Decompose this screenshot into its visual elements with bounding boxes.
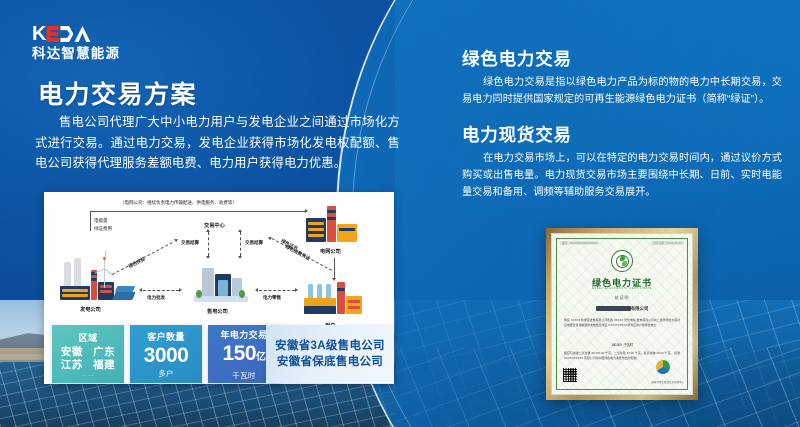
diagram-label-settlement-left: 交易结算	[181, 240, 199, 246]
stat-value-customers: 3000	[144, 345, 189, 367]
diagram-icon-retailer-building	[192, 266, 248, 306]
section-body-spot-trading: 在电力交易市场上，可以在特定的电力交易时间内，通过议价方式购买或出售电量。电力现…	[462, 150, 782, 201]
stat-value-annual-suffix: 亿	[256, 352, 266, 363]
certificate-issuer-logo-icon	[656, 360, 670, 374]
diagram-settle-left-line	[208, 232, 209, 256]
diagram-green-cert-arrowhead-icon	[267, 236, 272, 241]
logo-mark: K	[32, 24, 152, 44]
certificate-organization-suffix: 有限公司	[631, 306, 649, 311]
certificate-serial-code: 编号：XXXXXXXXXXXXXXXX	[560, 241, 599, 245]
stat-tile-customers: 客户数量 3000 多户	[130, 325, 202, 383]
certificate-top-codes: 编号：XXXXXXXXXXXXXXXX 出具日期：XXXX-XX-XX	[560, 241, 684, 245]
diagram-settle-right-line	[240, 232, 241, 256]
logo-letter-k: K	[32, 24, 45, 44]
certificate-issue-date: 出具日期：XXXX-XX-XX	[651, 241, 684, 245]
diagram-node-trading-center: 交易中心	[204, 222, 225, 229]
certificate-qr-code	[563, 368, 577, 382]
stat-region-row-2: 江苏 福建	[61, 359, 115, 372]
diagram-wholesale-arrowhead-right-icon	[179, 288, 182, 292]
certificate-amount-value: 100,000	[611, 343, 621, 347]
badge-line-3a: 安徽省3A级售电公司	[275, 338, 385, 354]
green-certificate-frame: 编号：XXXXXXXXXXXXXXXX 出具日期：XXXX-XX-XX 绿色电力…	[546, 228, 698, 400]
stat-region-guangdong: 广东	[93, 346, 115, 358]
diagram-icon-user-factory	[300, 282, 364, 320]
certificate-subtitle: 兹证明	[552, 295, 692, 301]
diagram-settle-right-arrowhead-up-icon	[238, 229, 242, 232]
diagram-label-cert-fee: 绿证费用	[94, 226, 112, 232]
certificate-amount-unit: 千瓦时	[624, 343, 633, 347]
section-body-green-power: 绿色电力交易是指以绿色电力产品为标的物的电力中长期交易，交易电力同时提供国家规定…	[462, 74, 782, 108]
certificate-paragraph-2: 相应可减排二氧化碳 49,000.00 千克，二氧化硫 67.00 千克，氮氧化…	[564, 351, 680, 360]
badge-line-backstop: 安徽省保底售电公司	[277, 354, 383, 370]
stat-unit-annual-volume: 千瓦时	[232, 370, 255, 381]
diagram-retail-arrowhead-left-icon	[255, 288, 258, 292]
logo-letter-e-icon	[46, 26, 59, 42]
diagram-wholesale-line	[143, 290, 179, 291]
stat-unit-customers: 多户	[158, 368, 174, 379]
poster-canvas: K 科达智慧能源 电力交易方案 售电公司代理广大中小电力用户与发电企业之间通过市…	[0, 0, 800, 427]
diagram-grid-user-line	[334, 258, 335, 278]
certificate-organization-redacted: XXXXXXXXXXXX	[596, 306, 631, 311]
stat-caption-regions: 区域	[79, 331, 98, 344]
diagram-icon-grid-company	[302, 202, 362, 246]
stat-region-anhui: 安徽	[61, 346, 83, 358]
diagram-node-generation-company: 发电公司	[80, 306, 101, 313]
qualification-badge-panel: KEDA 安徽省3A级售电公司 安徽省保底售电公司	[266, 325, 394, 383]
certificate-seal-inner-icon	[616, 255, 629, 268]
diagram-grid-note: （电网公司：继续负责电力传输配送、供电服务、收费等）	[120, 200, 237, 206]
diagram-grid-user-arrowhead-icon	[332, 278, 336, 281]
certificate-amount: 100,000 千瓦时	[552, 338, 692, 348]
diagram-top-line	[90, 211, 305, 212]
section-heading-spot-trading: 电力现货交易	[462, 122, 572, 147]
logo-letter-a-icon	[74, 26, 90, 42]
diagram-settle-right-arrowhead-down-icon	[238, 256, 242, 259]
stat-region-fujian: 福建	[93, 359, 115, 371]
stat-region-jiangsu: 江苏	[61, 359, 83, 371]
diagram-retail-line	[259, 290, 295, 291]
diagram-green-rights-arrowhead-icon	[174, 238, 179, 243]
section-heading-green-power: 绿色电力交易	[462, 46, 572, 71]
certificate-issuer-name: 国家可再生能源信息管理中心	[651, 380, 684, 384]
stat-region-row-1: 安徽 广东	[61, 346, 115, 359]
diagram-settle-left-arrowhead-up-icon	[206, 229, 210, 232]
certificate-organization: XXXXXXXXXXXX有限公司	[552, 306, 692, 312]
stat-value-annual-volume: 150亿	[222, 343, 265, 369]
diagram-label-settlement-right: 交易结算	[245, 240, 263, 246]
stat-value-annual-number: 150	[222, 342, 256, 365]
certificate-seal-icon	[611, 250, 633, 272]
certificate-paragraph: 购买 XXXXX 新能源发电有限公司所属 XXXXX 光伏电站 发电项目公司向二…	[564, 318, 680, 327]
diagram-wholesale-arrowhead-left-icon	[139, 288, 142, 292]
stat-tiles: 区域 安徽 广东 江苏 福建 …… 客户数量 3000 多户 年电力交易 150…	[52, 325, 280, 383]
stat-caption-annual-volume: 年电力交易	[220, 328, 267, 341]
diagram-settle-left-arrowhead-down-icon	[206, 256, 210, 259]
watermark-keda: KEDA	[266, 325, 268, 383]
stat-tile-regions: 区域 安徽 广东 江苏 福建 ……	[52, 325, 124, 383]
diagram-node-grid-company: 电网公司	[320, 248, 341, 255]
page-title: 电力交易方案	[38, 75, 197, 111]
diagram-top-drop	[90, 211, 91, 231]
stat-region-dots: ……	[81, 372, 95, 378]
diagram-label-retail: 电力零售	[263, 295, 281, 301]
brand-logo: K 科达智慧能源	[32, 24, 152, 61]
stat-caption-customers: 客户数量	[147, 330, 185, 343]
logo-letter-d-icon	[60, 26, 73, 42]
diagram-icon-power-plant	[58, 252, 136, 304]
intro-paragraph: 售电公司代理广大中小电力用户与发电企业之间通过市场化方式进行交易。通过电力交易，…	[35, 112, 400, 174]
diagram-node-retail-company: 售电公司	[207, 308, 228, 315]
diagram-label-wholesale: 电力批发	[147, 295, 165, 301]
green-certificate: 编号：XXXXXXXXXXXXXXXX 出具日期：XXXX-XX-XX 绿色电力…	[551, 233, 693, 395]
certificate-title-english: GREEN ELECTRICITY CERTIFICATE	[552, 287, 692, 290]
diagram-label-energy: 电能量	[94, 218, 107, 224]
logo-chinese-name: 科达智慧能源	[32, 46, 152, 61]
diagram-retail-arrowhead-right-icon	[295, 288, 298, 292]
